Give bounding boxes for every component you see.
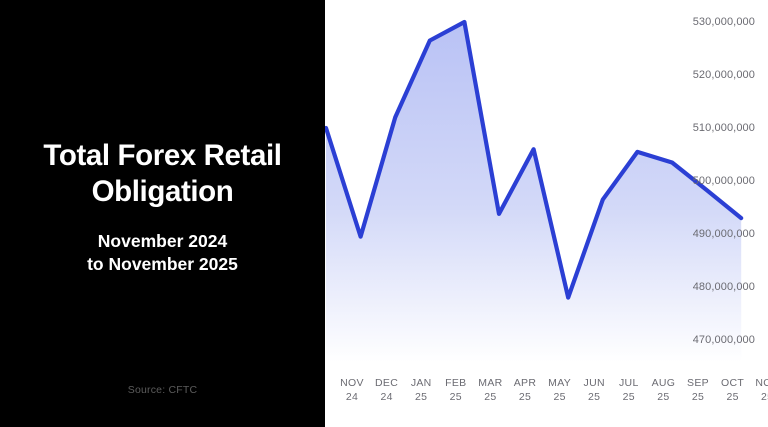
x-axis-tick-label: OCT 25	[721, 376, 744, 404]
x-axis-tick-label: SEP 25	[687, 376, 709, 404]
infographic-chart-card: Total Forex Retail Obligation November 2…	[0, 0, 768, 427]
title-panel: Total Forex Retail Obligation November 2…	[0, 0, 325, 427]
x-axis-tick-label: AUG 25	[652, 376, 676, 404]
x-axis-tick-label: JAN 25	[411, 376, 432, 404]
x-axis-tick-label: JUL 25	[619, 376, 639, 404]
chart-panel: 530,000,000520,000,000510,000,000500,000…	[325, 0, 768, 427]
x-axis-tick-label: DEC 24	[375, 376, 398, 404]
x-axis-tick-label: JUN 25	[584, 376, 605, 404]
x-axis-tick-label: MAY 25	[548, 376, 571, 404]
x-axis-tick-label: APR 25	[514, 376, 537, 404]
page-title: Total Forex Retail Obligation	[18, 138, 307, 210]
x-axis-labels: NOV 24DEC 24JAN 25FEB 25MAR 25APR 25MAY …	[325, 376, 768, 422]
x-axis-tick-label: NOV 24	[340, 376, 364, 404]
x-axis-tick-label: NOV 25	[755, 376, 768, 404]
x-axis-tick-label: FEB 25	[445, 376, 466, 404]
page-subtitle: November 2024 to November 2025	[18, 210, 307, 276]
x-axis-tick-label: MAR 25	[478, 376, 502, 404]
title-block: Total Forex Retail Obligation November 2…	[0, 138, 325, 275]
area-chart-plot	[325, 0, 768, 427]
area-fill	[326, 22, 741, 362]
source-attribution: Source: CFTC	[0, 384, 325, 396]
